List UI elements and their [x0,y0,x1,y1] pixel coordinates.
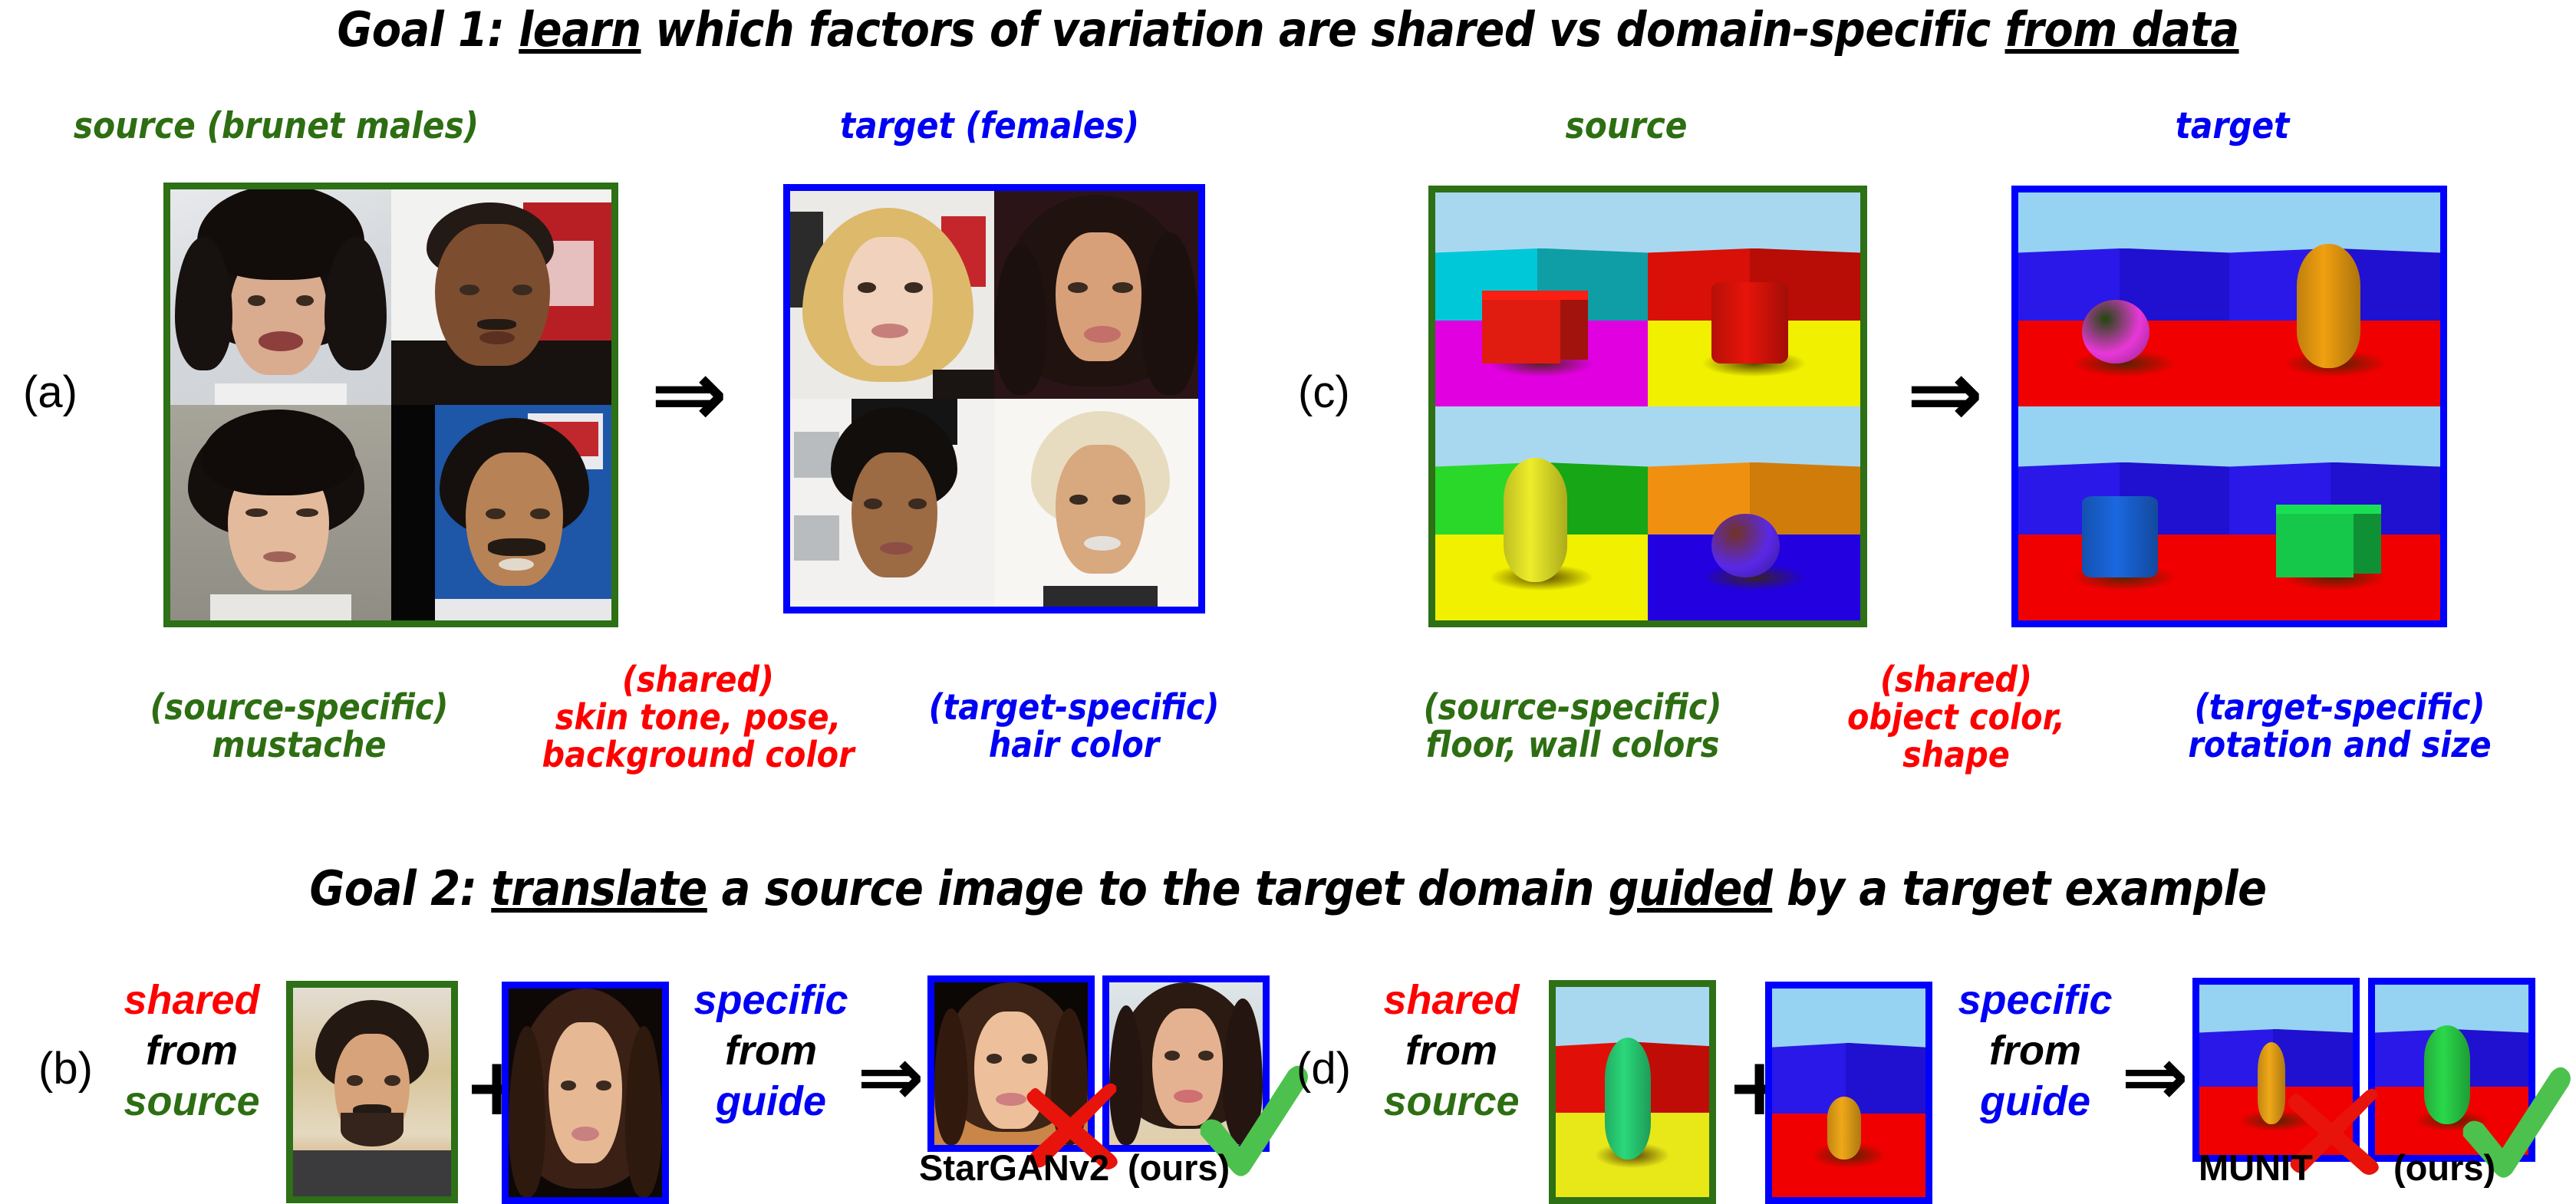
panel-b-arrow: ⇒ [857,1037,924,1117]
panel-a-arrow: ⇒ [651,349,728,441]
panel-c-source-cell-1 [1435,192,1648,406]
caption-line: shape [1810,736,2102,774]
panel-b-left-line-2: from [107,1026,276,1077]
goal-1-title: Goal 1: learn which factors of variation… [0,2,2576,58]
panel-d-mid-line-1: specific [1939,975,2131,1026]
caption-line: rotation and size [2117,726,2562,764]
panel-a-source-header: source (brunet males) [54,107,499,146]
goal-1-underline-from-data: from data [2005,2,2239,58]
panel-a-source-cell-3 [170,405,391,620]
panel-c-caption-source-specific: (source-specific) floor, wall colors [1358,689,1787,764]
panel-d-source-scene [1549,980,1716,1204]
panel-d-arrow: ⇒ [2121,1037,2189,1117]
goal-2-title: Goal 2: translate a source image to the … [0,860,2576,916]
caption-line: (source-specific) [1358,689,1787,726]
panel-d-letter: (d) [1296,1043,1351,1094]
caption-line: object color, [1810,699,2102,736]
panel-d-left-line-3: source [1367,1077,1536,1127]
panel-c-target-header: target [2064,107,2401,146]
panel-d-mid-line-2: from [1939,1026,2131,1077]
panel-b-left-lines: shared from source [107,975,276,1127]
panel-b-mid-line-2: from [675,1026,867,1077]
goal-1-prefix: Goal 1: [337,2,519,58]
caption-line: (target-specific) [882,689,1266,726]
caption-line: (target-specific) [2117,689,2562,726]
panel-c-source-cell-2 [1648,192,1860,406]
goal-2-underline-translate: translate [491,860,707,916]
panel-a-source-cell-4 [391,405,612,620]
panel-c-source-grid [1428,186,1867,627]
panel-d-result-bad-label: MUNIT [2199,1146,2313,1189]
goal-1-underline-learn: learn [519,2,641,58]
caption-line: mustache [84,726,514,764]
panel-a-source-cell-2 [391,189,612,405]
panel-d-result-good-label: (ours) [2393,1146,2495,1189]
panel-c-caption-target-specific: (target-specific) rotation and size [2117,689,2562,764]
panel-c-target-grid [2011,186,2447,627]
panel-b-result-bad-label: StarGANv2 [919,1146,1109,1189]
panel-c-target-cell-2 [2229,192,2440,406]
panel-b-guide-image [502,982,669,1204]
panel-b-result-good-label: (ours) [1128,1146,1230,1189]
panel-c-target-cell-1 [2018,192,2229,406]
panel-b-letter: (b) [38,1043,93,1094]
panel-d-mid-lines: specific from guide [1939,975,2131,1127]
caption-line: floor, wall colors [1358,726,1787,764]
panel-a-source-cell-1 [170,189,391,405]
panel-a-caption-shared: (shared) skin tone, pose, background col… [537,661,859,773]
panel-b-left-line-3: source [107,1077,276,1127]
panel-b-mid-lines: specific from guide [675,975,867,1127]
panel-a-target-grid [783,184,1205,614]
caption-line: hair color [882,726,1266,764]
panel-c-target-cell-3 [2018,406,2229,620]
caption-line: (source-specific) [84,689,514,726]
panel-d-mid-line-3: guide [1939,1077,2131,1127]
goal-2-mid: a source image to the target domain [707,860,1609,916]
panel-b-mid-line-1: specific [675,975,867,1026]
panel-c-letter: (c) [1298,367,1350,418]
goal-1-mid: which factors of variation are shared vs… [641,2,2005,58]
panel-c-arrow: ⇒ [1906,349,1984,441]
caption-line: skin tone, pose, [537,699,859,736]
panel-b-left-line-1: shared [107,975,276,1026]
panel-c-target-cell-4 [2229,406,2440,620]
panel-a-target-cell-3 [790,399,994,607]
panel-a-caption-target-specific: (target-specific) hair color [882,689,1266,764]
panel-a-letter: (a) [23,367,77,418]
caption-line: (shared) [1810,661,2102,699]
panel-a-target-cell-1 [790,191,994,399]
panel-b-mid-line-3: guide [675,1077,867,1127]
panel-a-target-header: target (females) [767,107,1212,146]
goal-2-suffix: by a target example [1772,860,2266,916]
caption-line: (shared) [537,661,859,699]
panel-d-left-lines: shared from source [1367,975,1536,1127]
panel-b-source-image [286,981,458,1203]
panel-c-caption-shared: (shared) object color, shape [1810,661,2102,773]
caption-line: background color [537,736,859,774]
panel-c-source-cell-3 [1435,406,1648,620]
panel-d-left-line-1: shared [1367,975,1536,1026]
panel-a-caption-source-specific: (source-specific) mustache [84,689,514,764]
panel-c-source-cell-4 [1648,406,1860,620]
panel-a-source-grid [163,183,618,627]
goal-2-underline-guided: guided [1609,860,1772,916]
panel-d-left-line-2: from [1367,1026,1536,1077]
panel-a-target-cell-2 [994,191,1198,399]
goal-2-prefix: Goal 2: [310,860,492,916]
panel-a-target-cell-4 [994,399,1198,607]
panel-c-source-header: source [1458,107,1795,146]
panel-d-guide-scene [1765,982,1932,1204]
